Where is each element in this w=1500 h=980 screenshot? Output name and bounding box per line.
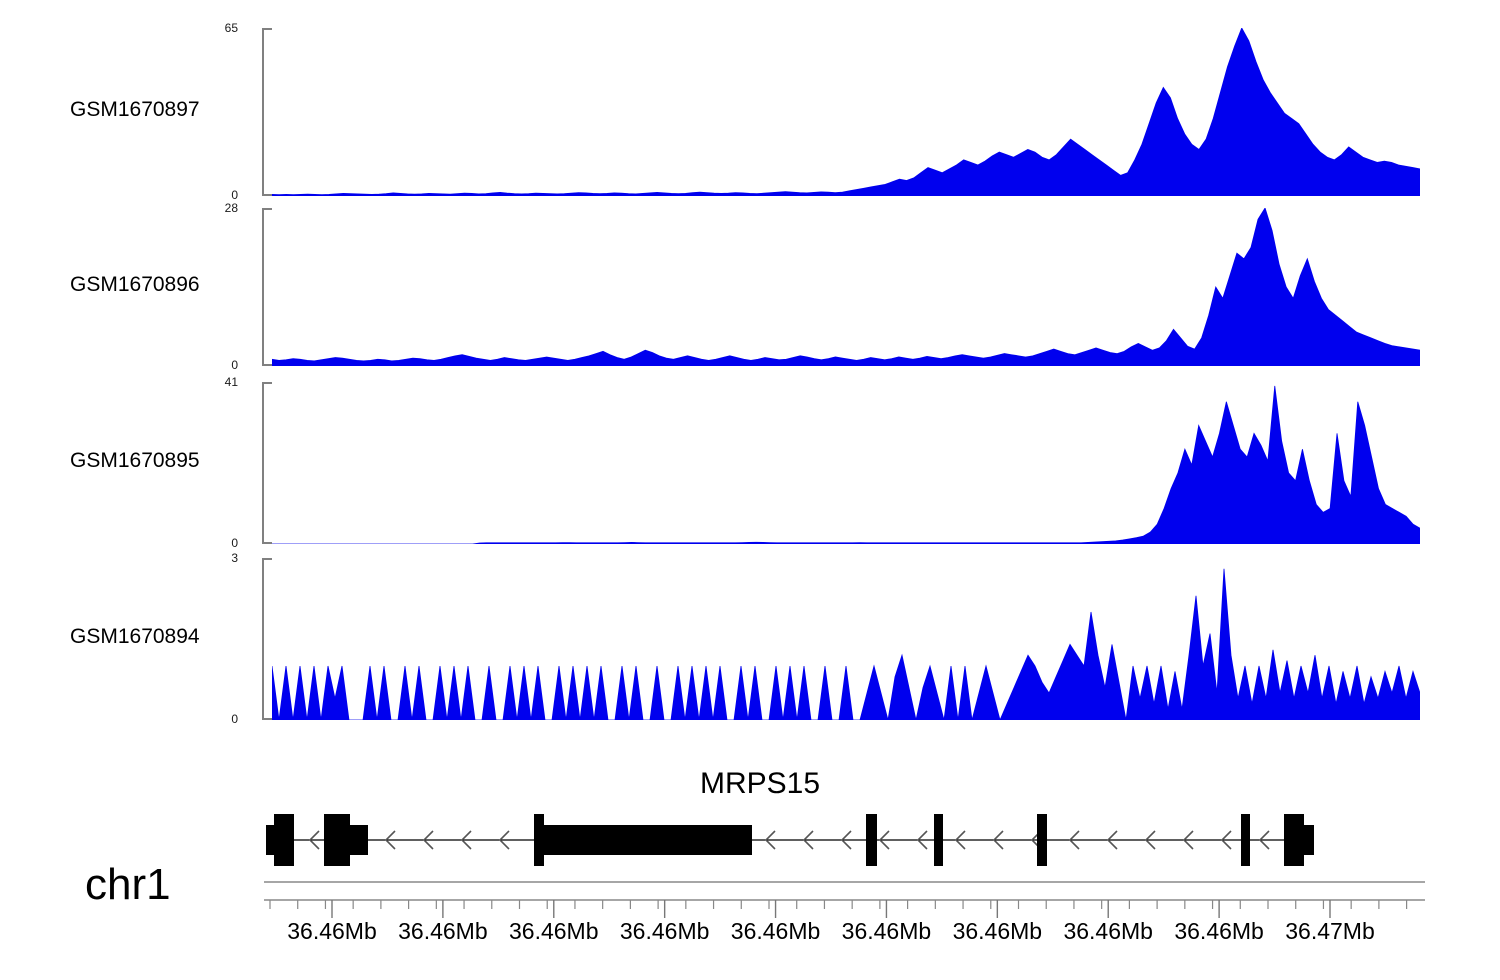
genomic-axis[interactable]: 36.46Mb36.46Mb36.46Mb36.46Mb36.46Mb36.46… [240, 878, 1440, 968]
track-signal-plot[interactable] [272, 28, 1420, 196]
track-axis-min-label: 0 [198, 358, 238, 372]
track-axis-max-label: 41 [198, 375, 238, 389]
coverage-track[interactable]: GSM167089430 [0, 558, 1500, 720]
track-signal-plot[interactable] [272, 558, 1420, 720]
track-axis-min-label: 0 [198, 712, 238, 726]
axis-tick-label: 36.46Mb [383, 918, 503, 945]
chromosome-label: chr1 [85, 860, 171, 910]
track-sample-label: GSM1670894 [70, 625, 240, 649]
axis-tick-label: 36.46Mb [494, 918, 614, 945]
axis-tick-label: 36.47Mb [1270, 918, 1390, 945]
axis-tick-label: 36.46Mb [716, 918, 836, 945]
track-axis-max-label: 3 [198, 551, 238, 565]
genome-browser: GSM1670897650GSM1670896280GSM1670895410G… [0, 0, 1500, 980]
gene-name-label: MRPS15 [700, 767, 820, 801]
track-sample-label: GSM1670895 [70, 449, 240, 473]
track-axis-bracket [262, 558, 272, 720]
track-axis-max-label: 65 [198, 21, 238, 35]
axis-tick-label: 36.46Mb [937, 918, 1057, 945]
track-signal-plot[interactable] [272, 208, 1420, 366]
track-axis-min-label: 0 [198, 188, 238, 202]
axis-tick-label: 36.46Mb [1159, 918, 1279, 945]
track-axis-bracket [262, 208, 272, 366]
track-axis-bracket [262, 28, 272, 196]
axis-tick-label: 36.46Mb [1048, 918, 1168, 945]
track-axis-min-label: 0 [198, 536, 238, 550]
coverage-track[interactable]: GSM1670896280 [0, 208, 1500, 366]
coverage-track[interactable]: GSM1670895410 [0, 382, 1500, 544]
track-axis-max-label: 28 [198, 201, 238, 215]
track-axis-bracket [262, 382, 272, 544]
coverage-track[interactable]: GSM1670897650 [0, 28, 1500, 196]
track-sample-label: GSM1670896 [70, 273, 240, 297]
track-signal-plot[interactable] [272, 382, 1420, 544]
track-sample-label: GSM1670897 [70, 98, 240, 122]
axis-tick-label: 36.46Mb [605, 918, 725, 945]
gene-model[interactable] [262, 810, 1422, 870]
axis-tick-label: 36.46Mb [826, 918, 946, 945]
axis-tick-label: 36.46Mb [272, 918, 392, 945]
